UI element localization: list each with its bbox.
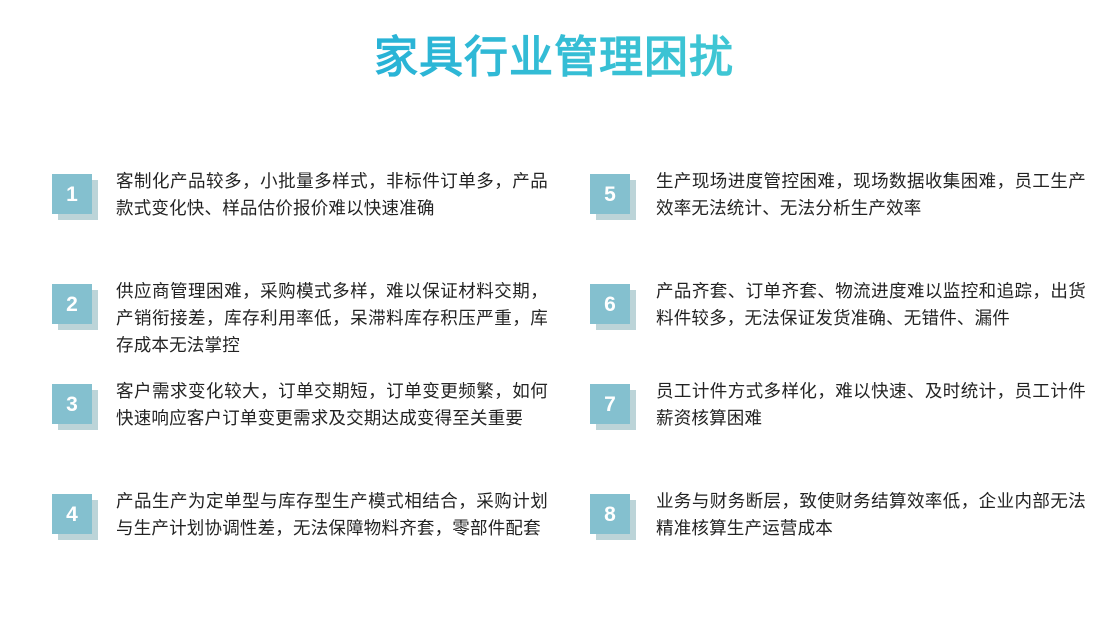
list-item: 7 员工计件方式多样化，难以快速、及时统计，员工计件薪资核算困难 (586, 378, 1086, 432)
badge-face-square: 1 (52, 174, 92, 214)
item-text: 员工计件方式多样化，难以快速、及时统计，员工计件薪资核算困难 (656, 378, 1086, 432)
list-item: 2 供应商管理困难，采购模式多样，难以保证材料交期，产销衔接差，库存利用率低，呆… (48, 278, 548, 359)
badge-face-square: 4 (52, 494, 92, 534)
badge-number: 1 (66, 184, 78, 205)
item-number-badge: 8 (586, 492, 640, 540)
item-number-badge: 5 (586, 172, 640, 220)
badge-number: 7 (604, 394, 616, 415)
item-text: 客制化产品较多，小批量多样式，非标件订单多，产品款式变化快、样品估价报价难以快速… (116, 168, 548, 222)
item-text: 产品生产为定单型与库存型生产模式相结合，采购计划与生产计划协调性差，无法保障物料… (116, 488, 548, 542)
badge-face-square: 2 (52, 284, 92, 324)
list-item: 1 客制化产品较多，小批量多样式，非标件订单多，产品款式变化快、样品估价报价难以… (48, 168, 548, 222)
item-number-badge: 3 (48, 382, 102, 430)
list-item: 4 产品生产为定单型与库存型生产模式相结合，采购计划与生产计划协调性差，无法保障… (48, 488, 548, 542)
badge-number: 4 (66, 504, 78, 525)
badge-face-square: 8 (590, 494, 630, 534)
badge-face-square: 6 (590, 284, 630, 324)
item-number-badge: 6 (586, 282, 640, 330)
list-item: 3 客户需求变化较大，订单交期短，订单变更频繁，如何快速响应客户订单变更需求及交… (48, 378, 548, 432)
item-number-badge: 4 (48, 492, 102, 540)
badge-number: 5 (604, 184, 616, 205)
item-text: 生产现场进度管控困难，现场数据收集困难，员工生产效率无法统计、无法分析生产效率 (656, 168, 1086, 222)
list-item: 8 业务与财务断层，致使财务结算效率低，企业内部无法精准核算生产运营成本 (586, 488, 1086, 542)
item-text: 客户需求变化较大，订单交期短，订单变更频繁，如何快速响应客户订单变更需求及交期达… (116, 378, 548, 432)
item-text: 业务与财务断层，致使财务结算效率低，企业内部无法精准核算生产运营成本 (656, 488, 1086, 542)
badge-face-square: 7 (590, 384, 630, 424)
content-columns: 1 客制化产品较多，小批量多样式，非标件订单多，产品款式变化快、样品估价报价难以… (0, 160, 1108, 600)
page-title: 家具行业管理困扰 (0, 33, 1108, 84)
item-number-badge: 1 (48, 172, 102, 220)
item-number-badge: 2 (48, 282, 102, 330)
badge-number: 3 (66, 394, 78, 415)
item-number-badge: 7 (586, 382, 640, 430)
list-item: 5 生产现场进度管控困难，现场数据收集困难，员工生产效率无法统计、无法分析生产效… (586, 168, 1086, 222)
badge-face-square: 5 (590, 174, 630, 214)
badge-number: 8 (604, 504, 616, 525)
item-text: 产品齐套、订单齐套、物流进度难以监控和追踪，出货料件较多，无法保证发货准确、无错… (656, 278, 1086, 332)
list-item: 6 产品齐套、订单齐套、物流进度难以监控和追踪，出货料件较多，无法保证发货准确、… (586, 278, 1086, 332)
badge-face-square: 3 (52, 384, 92, 424)
badge-number: 6 (604, 294, 616, 315)
item-text: 供应商管理困难，采购模式多样，难以保证材料交期，产销衔接差，库存利用率低，呆滞料… (116, 278, 548, 359)
badge-number: 2 (66, 294, 78, 315)
